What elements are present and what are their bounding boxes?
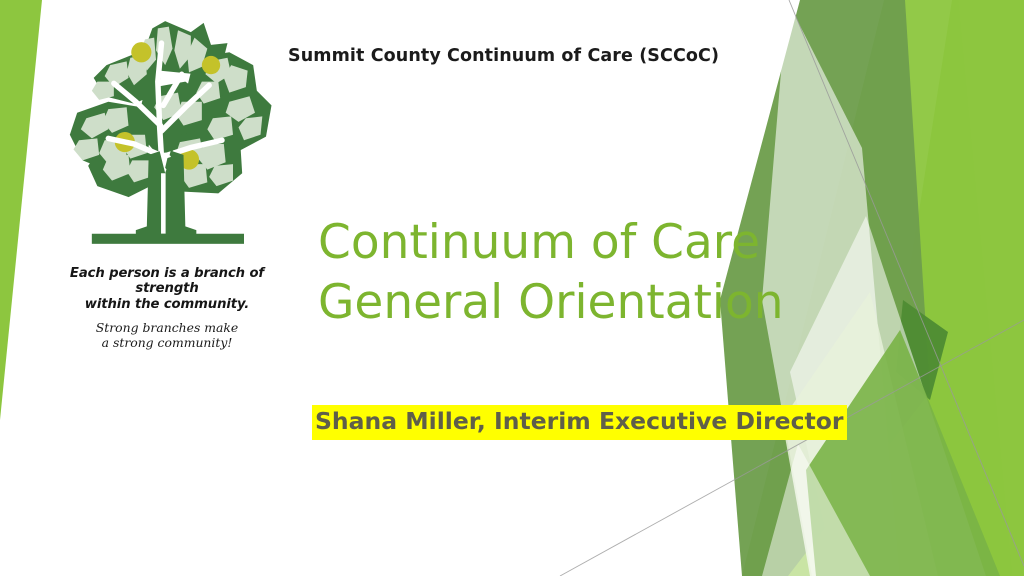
hairline-diagonal-lower	[560, 320, 1024, 576]
green-wedge-bottom	[806, 330, 1000, 576]
right-bright-band	[862, 0, 1024, 576]
organization-logo-block: Each person is a branch of strength with…	[38, 8, 296, 351]
slide-main-title: Continuum of Care General Orientation	[318, 213, 858, 332]
fruit-circle-1	[131, 42, 151, 62]
slide-subtitle: Shana Miller, Interim Executive Director	[312, 405, 847, 440]
slide-header-title: Summit County Continuum of Care (SCCoC)	[288, 46, 719, 66]
logo-tagline-primary: Each person is a branch of strength with…	[38, 266, 296, 312]
main-title-line-2: General Orientation	[318, 273, 858, 333]
logo-tagline-secondary: Strong branches make a strong community!	[38, 321, 296, 351]
fruit-circle-2	[202, 56, 220, 74]
deep-green-accent	[896, 300, 948, 400]
main-title-line-1: Continuum of Care	[318, 213, 858, 273]
logo-tagline-primary-line1: Each person is a branch of strength	[70, 266, 264, 296]
subtitle-highlighted-text: Shana Miller, Interim Executive Director	[312, 405, 847, 440]
logo-tagline-primary-line2: within the community.	[85, 297, 249, 312]
slide-canvas: Each person is a branch of strength with…	[0, 0, 1024, 576]
tree-logo-icon	[57, 8, 277, 256]
light-overlay-lower	[762, 444, 870, 576]
logo-tagline-secondary-line1: Strong branches make	[96, 320, 238, 335]
tree-ground-bar	[92, 234, 244, 244]
logo-tagline-secondary-line2: a strong community!	[102, 335, 233, 350]
left-green-wedge	[0, 0, 42, 420]
